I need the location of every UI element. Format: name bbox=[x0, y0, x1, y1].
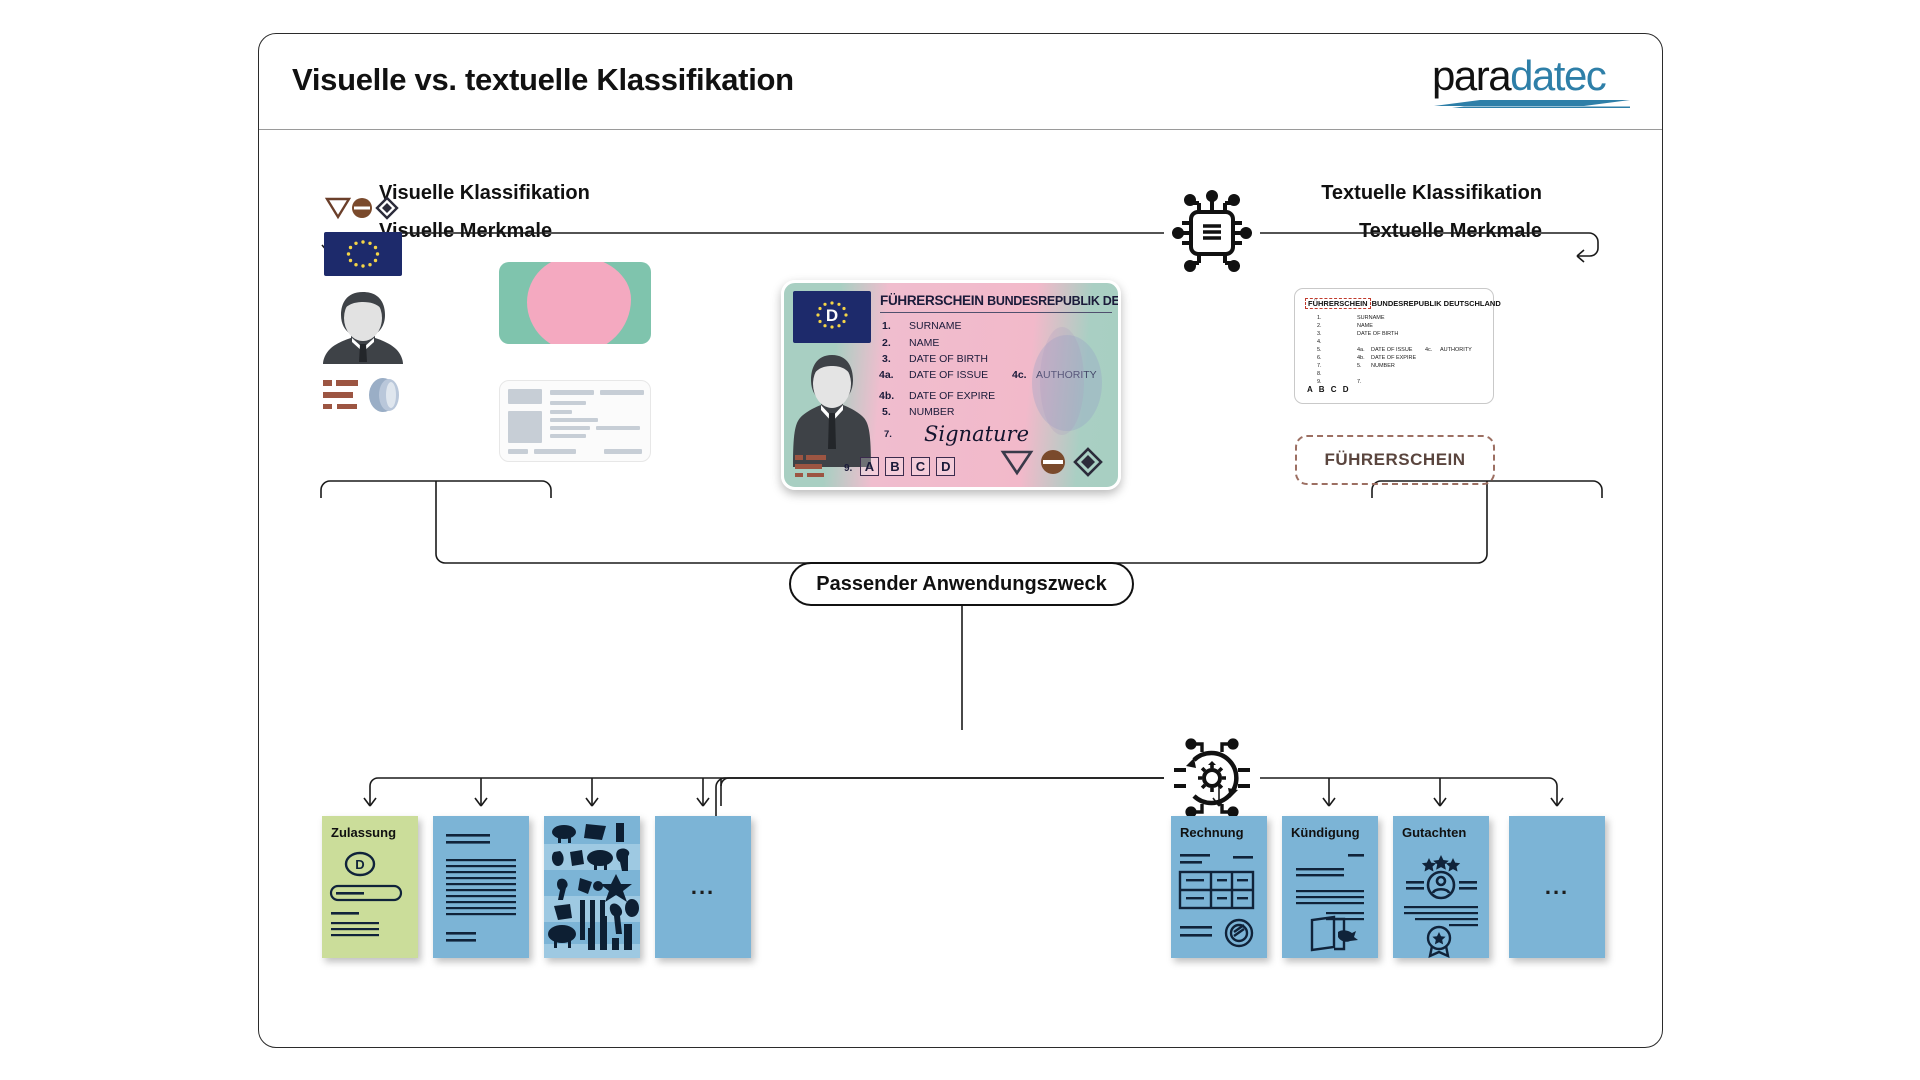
visual-features-group bbox=[319, 190, 609, 460]
report-body-icon bbox=[1393, 816, 1489, 958]
textual-row-label: NAME bbox=[1357, 323, 1373, 329]
textual-num: 6. bbox=[1317, 355, 1322, 361]
slide-frame: Visuelle vs. textuelle Klassifikation pa… bbox=[258, 33, 1663, 1048]
license-class-boxes: A B C D bbox=[860, 457, 957, 476]
textual-row-num: 4a. bbox=[1357, 347, 1365, 353]
textual-title-rest: BUNDESREPUBLIK DEUTSCHLAND bbox=[1372, 299, 1501, 308]
license-title-rule bbox=[880, 312, 1112, 313]
license-field-label: SURNAME bbox=[909, 320, 962, 332]
license-field-label: NUMBER bbox=[909, 406, 955, 418]
slide-header: Visuelle vs. textuelle Klassifikation pa… bbox=[259, 34, 1662, 130]
textual-sample-card: FÜHRERSCHEINBUNDESREPUBLIK DEUTSCHLAND 1… bbox=[1294, 288, 1494, 404]
doc-rechnung[interactable]: Rechnung bbox=[1171, 816, 1267, 958]
page-title: Visuelle vs. textuelle Klassifikation bbox=[292, 62, 794, 98]
image-content-icon bbox=[544, 816, 640, 958]
license-class-c: C bbox=[911, 457, 930, 476]
doc-gutachten[interactable]: Gutachten bbox=[1393, 816, 1489, 958]
ellipsis-label: ... bbox=[655, 816, 751, 958]
doc-kuendigung[interactable]: Kündigung bbox=[1282, 816, 1378, 958]
center-node-passender-anwendungszweck[interactable]: Passender Anwendungszweck bbox=[789, 562, 1134, 606]
license-class-b: B bbox=[885, 457, 904, 476]
textual-row-label: AUTHORITY bbox=[1440, 347, 1472, 353]
license-title-rest: BUNDESREPUBLIK DEUTSCHLAND bbox=[987, 294, 1121, 308]
portrait-photo-icon bbox=[792, 349, 872, 467]
country-code: D bbox=[826, 306, 838, 325]
textual-num: 4. bbox=[1317, 339, 1322, 345]
security-symbols-icon bbox=[1000, 447, 1106, 477]
license-field-num: 1. bbox=[882, 320, 891, 332]
eu-flag-icon: D bbox=[793, 291, 871, 343]
textual-title-highlight: FÜHRERSCHEIN bbox=[1305, 298, 1371, 309]
doc-image[interactable] bbox=[544, 816, 640, 958]
invoice-body-icon bbox=[1171, 816, 1267, 958]
textual-num: 1. bbox=[1317, 315, 1322, 321]
textual-row-num: 4c. bbox=[1425, 347, 1432, 353]
license-field-num: 4a. bbox=[879, 369, 894, 381]
visual-layout-sample bbox=[499, 380, 651, 462]
termination-body-icon bbox=[1282, 816, 1378, 958]
textual-row-label: DATE OF BIRTH bbox=[1357, 331, 1398, 337]
license-signature: Signature bbox=[924, 422, 1029, 446]
textual-num: 5. bbox=[1317, 347, 1322, 353]
license-field-num: 5. bbox=[882, 406, 891, 418]
barcode-hologram-icon bbox=[321, 374, 407, 416]
textual-num: 8. bbox=[1317, 371, 1322, 377]
center-node-label: Passender Anwendungszweck bbox=[816, 573, 1106, 596]
license-field-num: 7. bbox=[884, 429, 892, 440]
textual-row-num: 7. bbox=[1357, 379, 1362, 385]
textual-row-label: DATE OF EXPIRE bbox=[1371, 355, 1416, 361]
license-card-sample: D FÜHRERSCHEIN BUNDESREPUBLIK DEUTSCHLAN… bbox=[781, 280, 1121, 490]
textual-row-label: DATE OF ISSUE bbox=[1371, 347, 1412, 353]
license-class-d: D bbox=[936, 457, 955, 476]
license-field-num: 9. bbox=[844, 463, 852, 474]
license-field-label: DATE OF BIRTH bbox=[909, 353, 988, 365]
right-branch-heading: Textuelle Klassifikation bbox=[1321, 182, 1542, 205]
textual-classes: A B C D bbox=[1307, 385, 1350, 394]
logo-text-para: para bbox=[1432, 52, 1510, 99]
doc-more-left[interactable]: ... bbox=[655, 816, 751, 958]
right-branch-sub: Textuelle Merkmale bbox=[1359, 220, 1542, 243]
paradatec-logo: paradatec bbox=[1432, 54, 1632, 116]
license-field-num: 2. bbox=[882, 337, 891, 349]
doc-text[interactable] bbox=[433, 816, 529, 958]
text-lines-icon bbox=[433, 816, 529, 958]
zulassung-badge: D bbox=[355, 857, 364, 872]
license-class-a: A bbox=[860, 457, 879, 476]
gear-icon bbox=[1164, 730, 1260, 826]
eu-flag-icon bbox=[324, 232, 402, 276]
barcode-icon bbox=[794, 453, 836, 479]
doc-more-right[interactable]: ... bbox=[1509, 816, 1605, 958]
security-symbols-icon bbox=[324, 195, 400, 221]
logo-swoosh-icon bbox=[1434, 99, 1630, 108]
textual-row-num: 4b. bbox=[1357, 355, 1365, 361]
textual-row-label: NUMBER bbox=[1371, 363, 1395, 369]
textual-num: 3. bbox=[1317, 331, 1322, 337]
visual-color-sample bbox=[499, 262, 651, 344]
doc-zulassung[interactable]: Zulassung D bbox=[322, 816, 418, 958]
textual-num: 2. bbox=[1317, 323, 1322, 329]
textual-title: FÜHRERSCHEINBUNDESREPUBLIK DEUTSCHLAND bbox=[1305, 298, 1483, 309]
license-field-num: 4b. bbox=[879, 390, 894, 402]
logo-text-datec: datec bbox=[1510, 52, 1605, 99]
license-field-label: DATE OF ISSUE bbox=[909, 369, 988, 381]
license-title: FÜHRERSCHEIN BUNDESREPUBLIK DEUTSCHLAND bbox=[880, 293, 1121, 308]
diagram-canvas: Visuelle Klassifikation Visuelle Merkmal… bbox=[259, 130, 1662, 1049]
license-title-highlight: FÜHRERSCHEIN bbox=[880, 293, 984, 308]
ellipsis-label: ... bbox=[1509, 816, 1605, 958]
textual-row-num: 5. bbox=[1357, 363, 1362, 369]
portrait-photo-icon bbox=[321, 288, 405, 364]
zulassung-body-icon: D bbox=[322, 816, 418, 958]
textual-row-label: SURNAME bbox=[1357, 315, 1385, 321]
extracted-keyword-box: FÜHRERSCHEIN bbox=[1295, 435, 1495, 485]
chip-icon bbox=[1164, 185, 1260, 281]
license-field-label: DATE OF EXPIRE bbox=[909, 390, 995, 402]
textual-num: 7. bbox=[1317, 363, 1322, 369]
license-field-num: 3. bbox=[882, 353, 891, 365]
license-field-num: 4c. bbox=[1012, 369, 1027, 381]
hologram-overlay bbox=[1040, 327, 1084, 435]
license-field-label: NAME bbox=[909, 337, 939, 349]
